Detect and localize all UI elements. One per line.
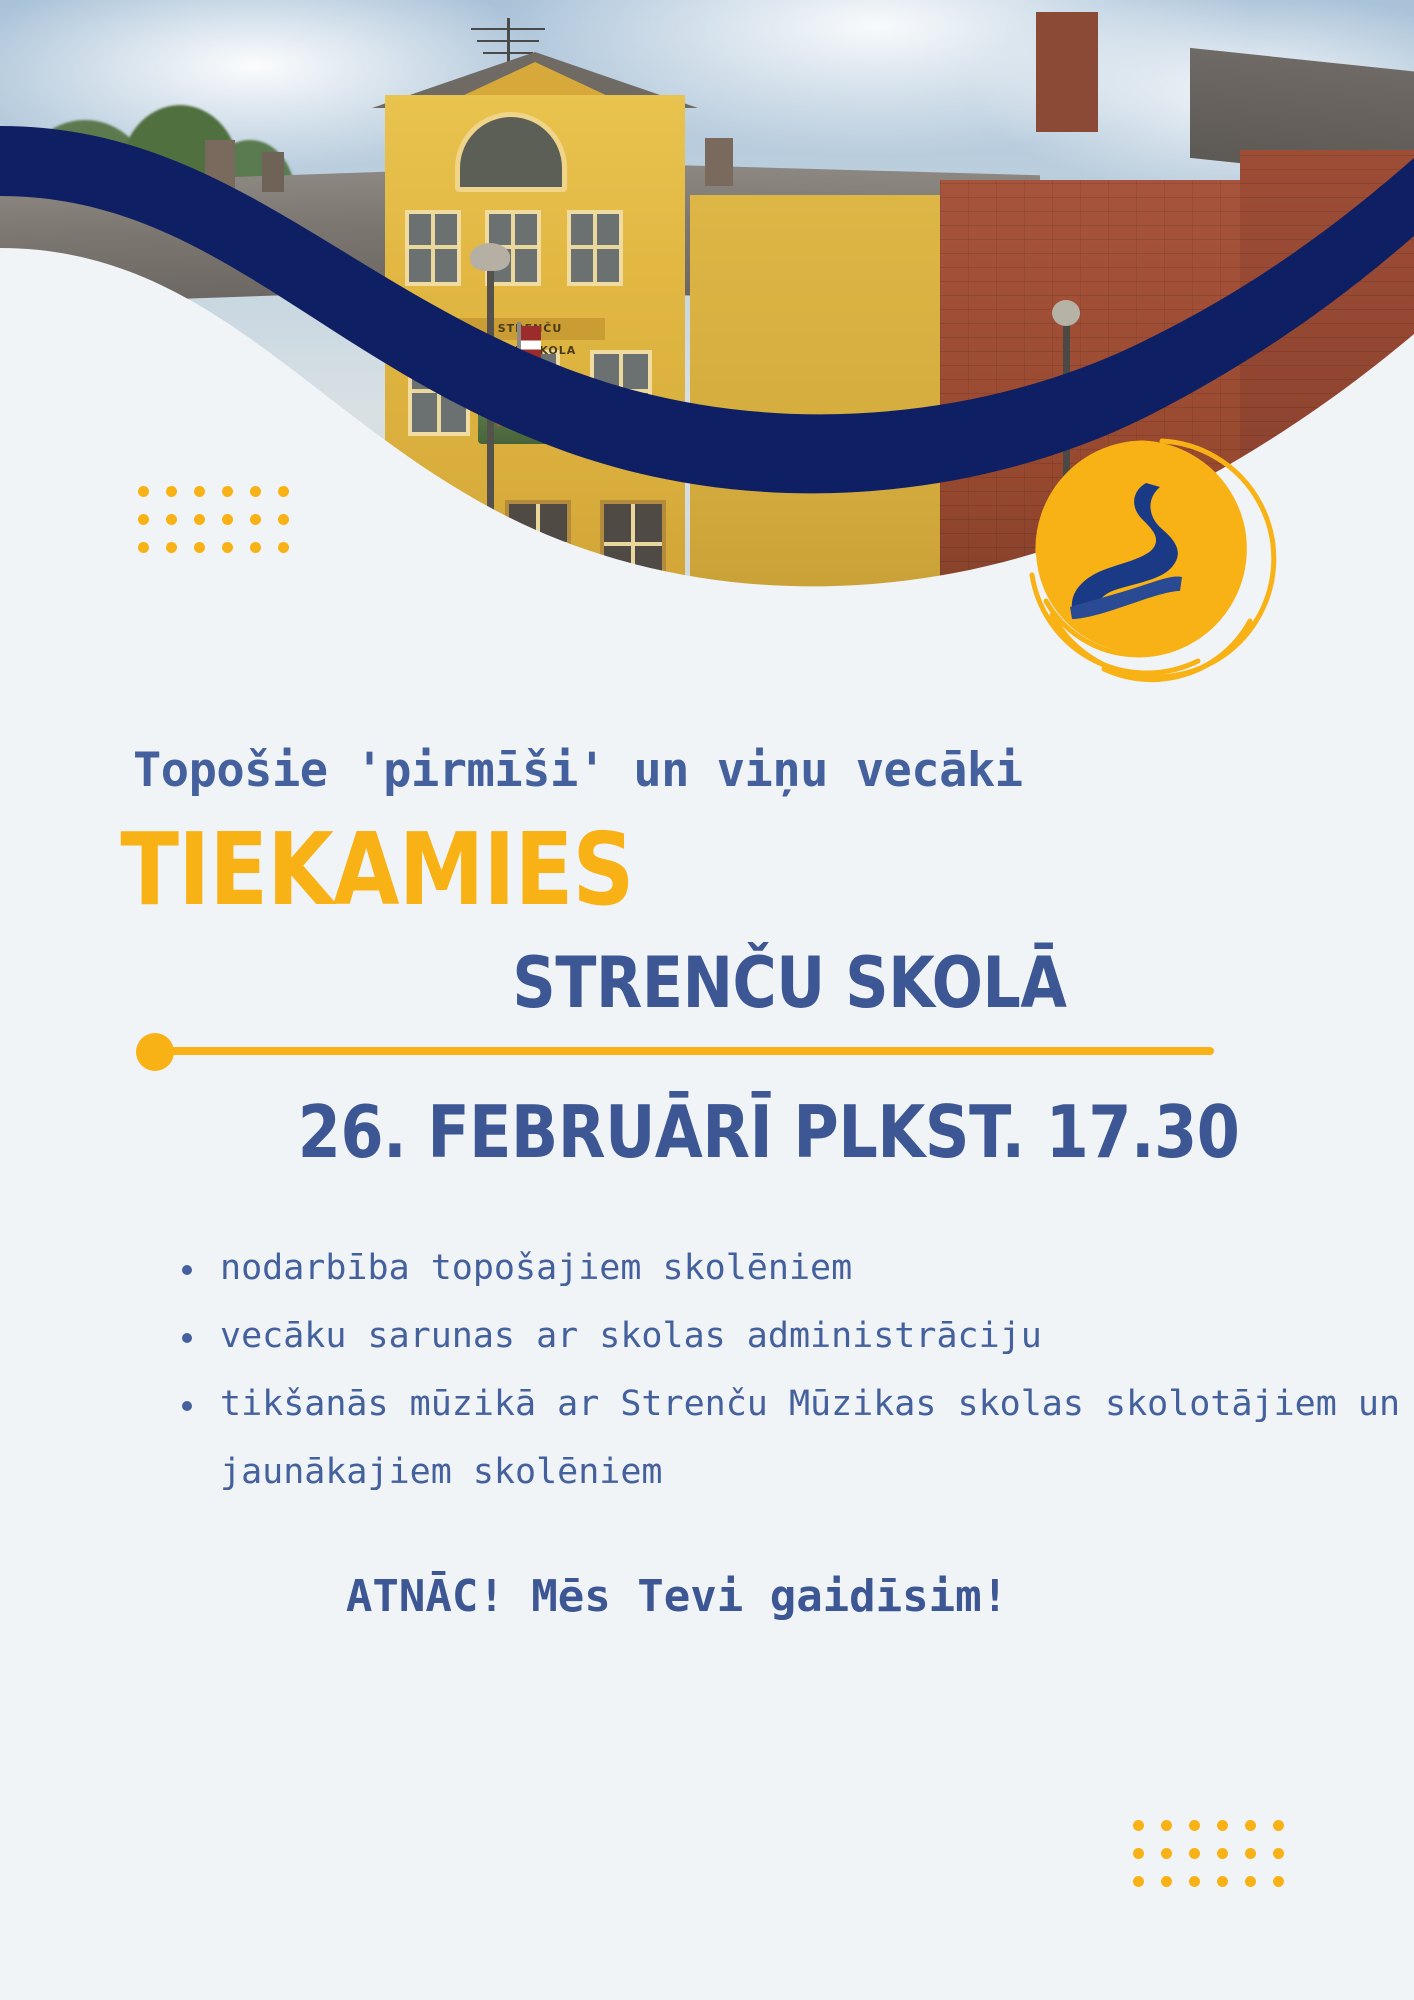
poster-root: STRENČU PAMATSKOLA bbox=[0, 0, 1414, 2000]
chimney bbox=[205, 140, 235, 190]
window bbox=[408, 350, 470, 436]
window bbox=[567, 210, 623, 286]
datetime-heading: 26. FEBRUĀRĪ PLKST. 17.30 bbox=[198, 1090, 1414, 1174]
chimney bbox=[262, 152, 284, 192]
list-item: nodarbība topošajiem skolēniem bbox=[180, 1234, 1414, 1302]
street-lamp-post bbox=[487, 268, 494, 568]
page-title: TIEKAMIES bbox=[0, 817, 1216, 922]
list-item: vecāku sarunas ar skolas administrāciju bbox=[180, 1302, 1414, 1370]
chimney bbox=[85, 148, 111, 192]
yellow-circle-badge bbox=[1012, 425, 1284, 697]
roof-left bbox=[0, 170, 420, 305]
flower-box bbox=[478, 408, 658, 444]
window bbox=[410, 500, 476, 592]
street-lamp-head bbox=[470, 243, 510, 271]
chimney bbox=[705, 138, 733, 186]
chimney bbox=[1036, 12, 1098, 132]
dot-grid-decoration-left bbox=[138, 486, 289, 553]
divider-line bbox=[160, 1047, 1214, 1055]
activity-list: nodarbība topošajiem skolēniem vecāku sa… bbox=[0, 1234, 1414, 1507]
window bbox=[505, 500, 571, 592]
kicker-line: Topošie 'pirmīši' un viņu vecāki bbox=[0, 745, 1414, 797]
latvian-flag-icon bbox=[521, 326, 541, 364]
building-wing bbox=[690, 195, 945, 660]
list-item: tikšanās mūzikā ar Strenču Mūzikas skola… bbox=[180, 1370, 1414, 1507]
street-lamp-head bbox=[1052, 300, 1080, 326]
poster-content: Topošie 'pirmīši' un viņu vecāki TIEKAMI… bbox=[0, 745, 1414, 1622]
call-to-action: ATNĀC! Mēs Tevi gaidīsim! bbox=[0, 1571, 1414, 1622]
location-heading: STRENČU SKOLĀ bbox=[198, 942, 1414, 1024]
dot-grid-decoration-right bbox=[1133, 1820, 1284, 1887]
window bbox=[600, 500, 666, 592]
divider bbox=[0, 1030, 1414, 1064]
window bbox=[405, 210, 461, 286]
